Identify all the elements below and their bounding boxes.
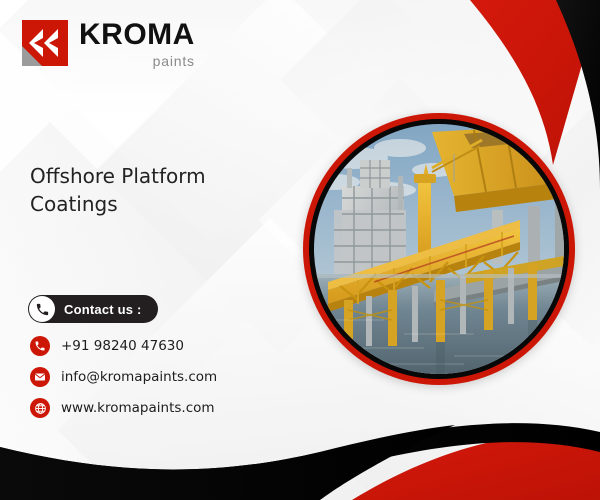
globe-icon bbox=[30, 398, 50, 418]
website-url: www.kromapaints.com bbox=[61, 400, 215, 416]
phone-icon bbox=[29, 296, 55, 322]
headline-line-2: Coatings bbox=[30, 190, 280, 218]
contact-list: +91 98240 47630 info@kromapaints.com bbox=[30, 336, 217, 429]
contact-us-badge: Contact us : bbox=[28, 295, 158, 323]
brand-name: KROMA bbox=[79, 20, 195, 50]
phone-number: +91 98240 47630 bbox=[61, 338, 184, 354]
email-address: info@kromapaints.com bbox=[61, 369, 217, 385]
page-title: Offshore Platform Coatings bbox=[30, 162, 280, 219]
contact-row-phone[interactable]: +91 98240 47630 bbox=[30, 336, 217, 356]
offshore-platform-photo-frame bbox=[303, 113, 575, 385]
headline-line-1: Offshore Platform bbox=[30, 162, 280, 190]
contact-row-email[interactable]: info@kromapaints.com bbox=[30, 367, 217, 387]
brand-wordmark: KROMA paints bbox=[79, 20, 195, 68]
brand-tagline: paints bbox=[79, 54, 195, 68]
kroma-chevron-logo-icon bbox=[22, 20, 68, 66]
brand-logo: KROMA paints bbox=[22, 20, 195, 68]
phone-icon bbox=[30, 336, 50, 356]
offshore-platform-photo bbox=[314, 124, 564, 374]
email-icon bbox=[30, 367, 50, 387]
contact-us-label: Contact us : bbox=[64, 302, 142, 317]
contact-row-website[interactable]: www.kromapaints.com bbox=[30, 398, 217, 418]
poster-canvas: KROMA paints Offshore Platform Coatings … bbox=[0, 0, 600, 500]
